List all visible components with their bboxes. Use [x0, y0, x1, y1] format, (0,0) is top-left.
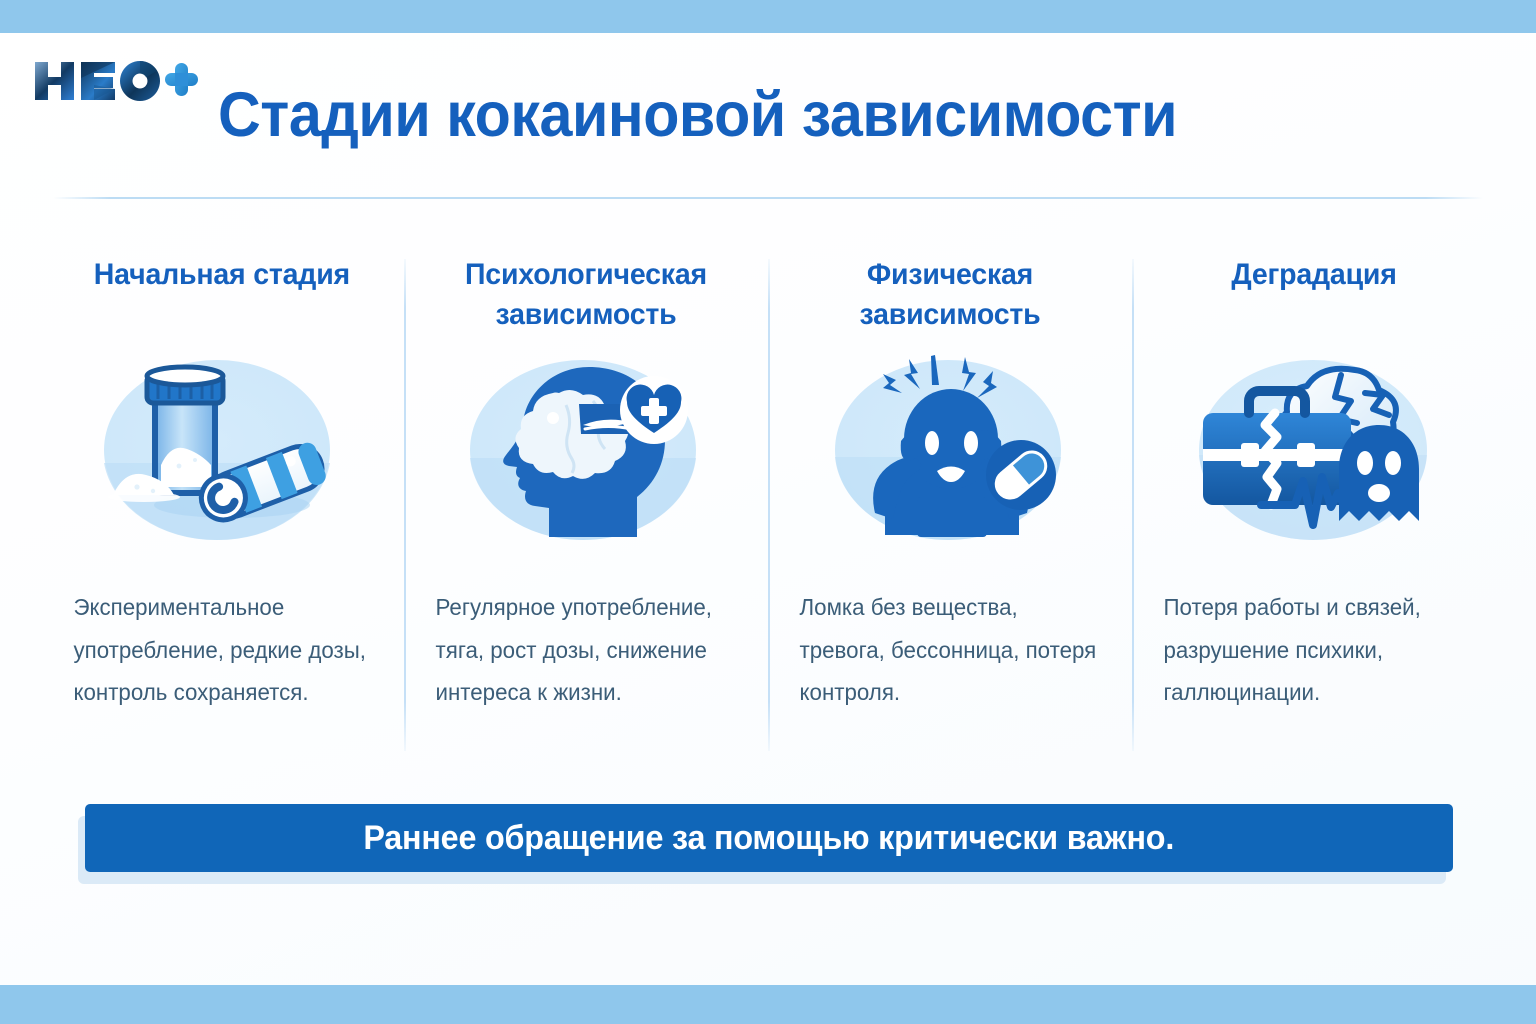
page-title: Стадии кокаиновой зависимости: [218, 82, 1374, 149]
header-divider: [53, 197, 1483, 199]
infographic-poster: Стадии кокаиновой зависимости Начальная …: [0, 0, 1536, 1024]
head-brain-craving-icon: [461, 345, 711, 560]
powder-jar-and-rolled-note-icon: [97, 345, 347, 560]
stage-heading: Деградация: [1231, 255, 1396, 339]
top-accent-bar: [0, 0, 1536, 33]
stage-column-initial: Начальная стадия: [40, 255, 404, 755]
banner-text: Раннее обращение за помощью критически в…: [364, 819, 1175, 858]
broken-briefcase-brain-ghost-icon: [1189, 345, 1439, 560]
stage-heading: Начальная стадия: [94, 255, 350, 339]
stage-column-psychological: Психологическая зависимость: [404, 255, 768, 755]
neo-plus-logo: [25, 52, 200, 110]
stage-column-physical: Физическая зависимость: [768, 255, 1132, 755]
stage-description: Ломка без вещества, тревога, бессонница,…: [784, 586, 1106, 714]
stage-description: Экспериментальное употребление, редкие д…: [56, 586, 378, 714]
stage-column-degradation: Деградация: [1132, 255, 1496, 755]
withdrawal-headache-person-icon: [825, 345, 1075, 560]
stage-description: Регулярное употребление, тяга, рост дозы…: [420, 586, 742, 714]
stage-heading: Психологическая зависимость: [428, 255, 743, 339]
stage-description: Потеря работы и связей, разрушение психи…: [1148, 586, 1470, 714]
stage-heading: Физическая зависимость: [792, 255, 1107, 339]
stages-row: Начальная стадия: [40, 255, 1496, 755]
call-to-action-banner: Раннее обращение за помощью критически в…: [85, 804, 1453, 872]
bottom-accent-bar: [0, 985, 1536, 1024]
